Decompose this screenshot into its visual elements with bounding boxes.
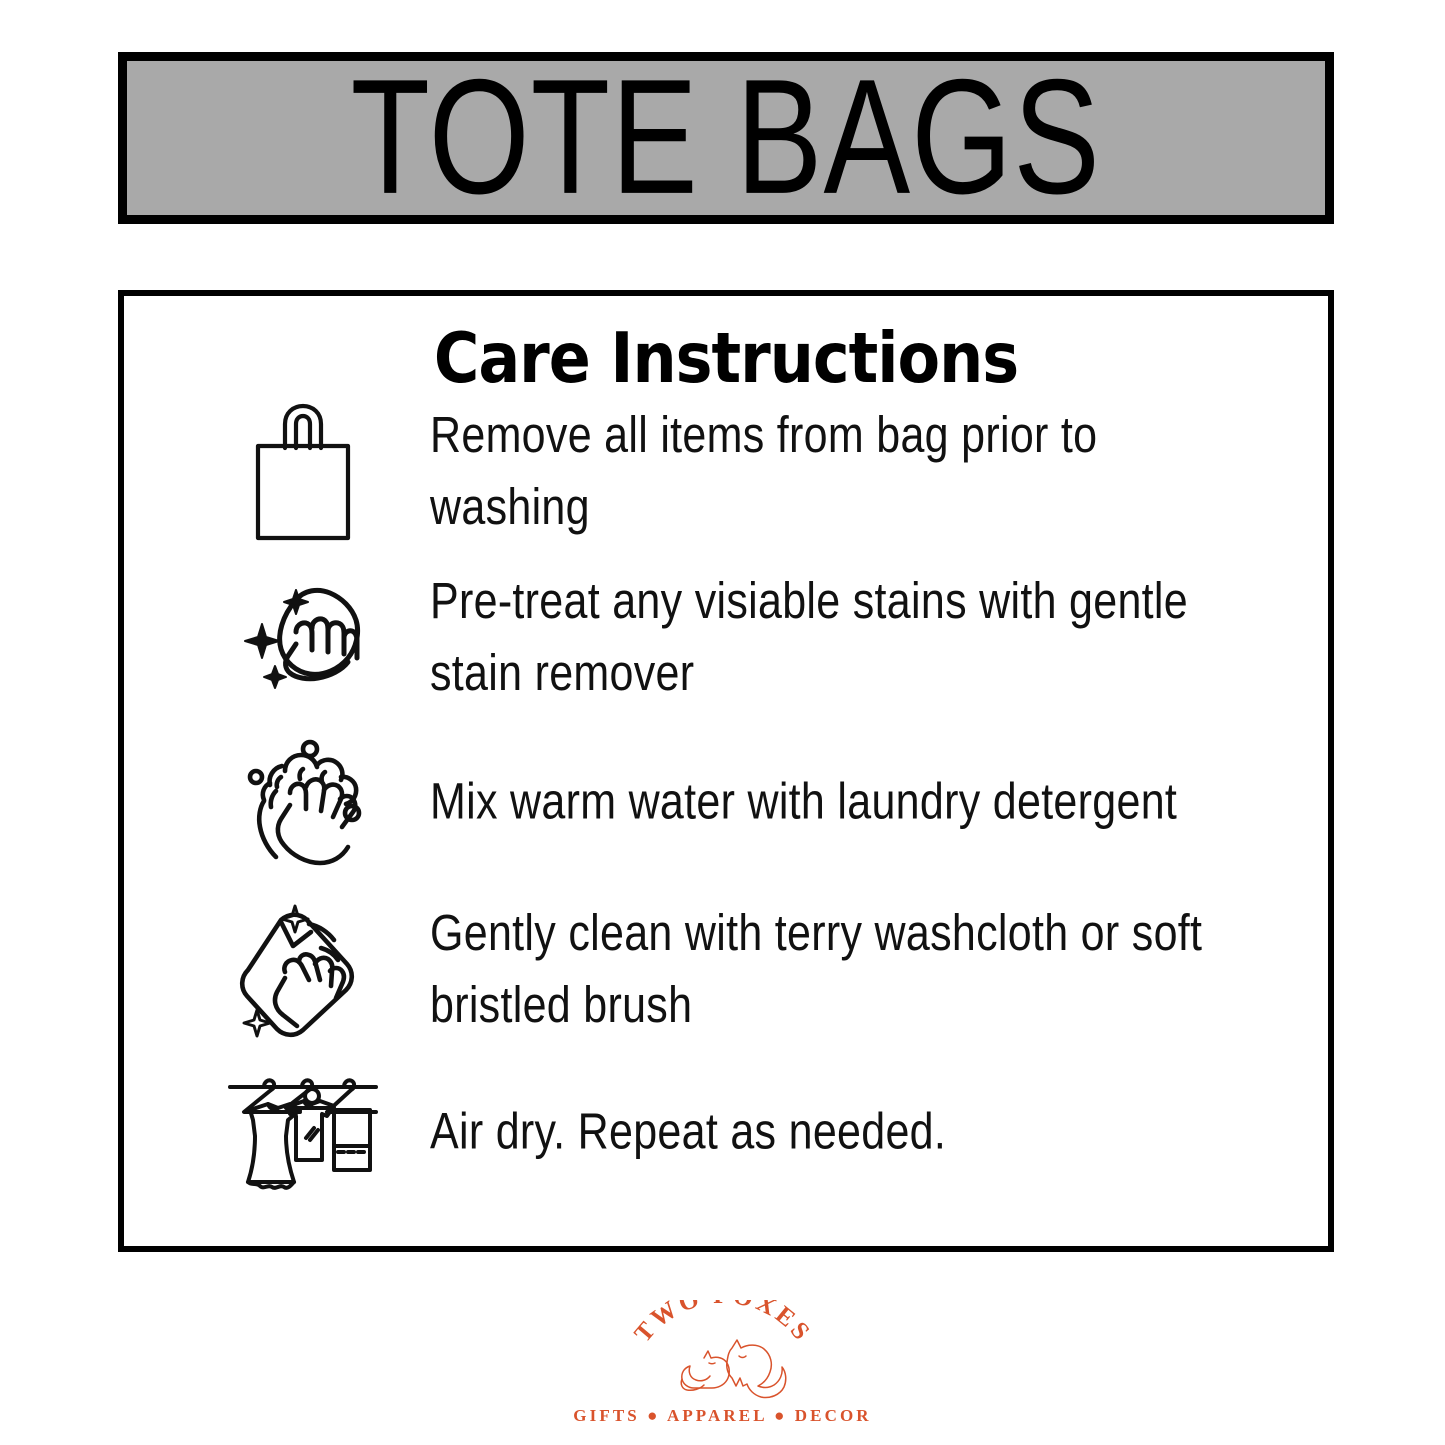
wiping-cloth-hand-sparkle-icon [228,895,378,1045]
list-item: Pre-treat any visiable stains with gentl… [124,552,1328,724]
clothes-drying-rack-icon [228,1058,378,1208]
two-foxes-icon: TWO FOXES [608,1300,838,1404]
hand-with-cloth-sparkle-icon [228,563,378,713]
care-instructions-heading: Care Instructions [124,324,1328,393]
list-item: Remove all items from bag prior to washi… [124,392,1328,552]
page-title: TOTE BAGS [351,56,1101,219]
list-item: Mix warm water with laundry detergent [124,724,1328,882]
instruction-text: Air dry. Repeat as needed. [378,1097,946,1169]
brand-logo: TWO FOXES GIFTS ● APPAREL ● DECOR [0,1300,1445,1426]
instruction-text: Remove all items from bag prior to washi… [378,400,1240,544]
tote-bag-icon [228,397,378,547]
header-banner: TOTE BAGS [118,52,1334,224]
brand-tagline: GIFTS ● APPAREL ● DECOR [573,1406,871,1426]
instruction-list: Remove all items from bag prior to washi… [124,392,1328,1208]
list-item: Air dry. Repeat as needed. [124,1058,1328,1208]
instruction-text: Gently clean with terry washcloth or sof… [378,898,1240,1042]
list-item: Gently clean with terry washcloth or sof… [124,882,1328,1058]
brand-name-arc: TWO FOXES [629,1300,816,1348]
washing-hands-soap-icon [228,728,378,878]
instruction-text: Pre-treat any visiable stains with gentl… [378,566,1240,710]
svg-text:TWO FOXES: TWO FOXES [629,1300,816,1348]
instruction-text: Mix warm water with laundry detergent [378,767,1177,839]
care-instructions-panel: Care Instructions Remove all items from … [118,290,1334,1252]
